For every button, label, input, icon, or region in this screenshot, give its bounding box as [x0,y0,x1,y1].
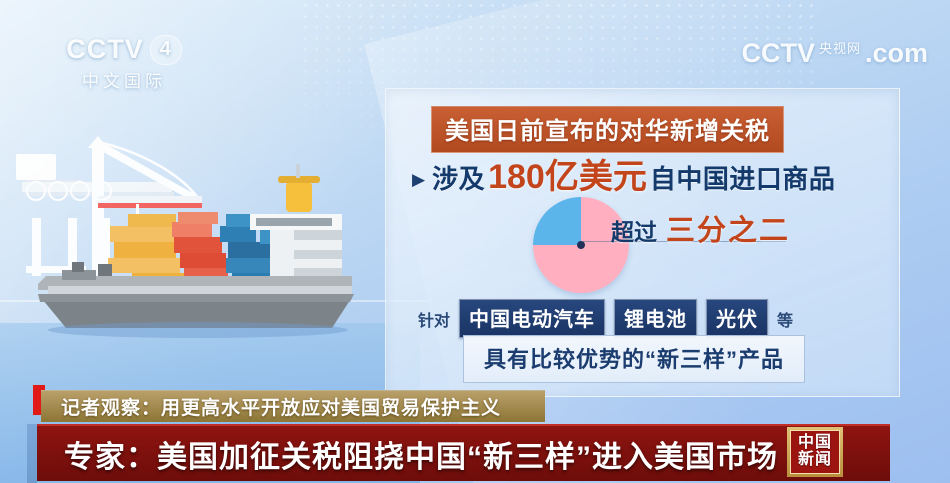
tag-photovoltaic: 光伏 [706,299,768,338]
panel-footnote-box: 具有比较优势的“新三样”产品 [463,335,805,383]
network-name: CCTV [66,34,144,65]
channel-name: 中文国际 [44,67,204,92]
panel-footnote-text: 具有比较优势的“新三样”产品 [484,347,784,372]
pie-callout: 超过 三分之二 [611,207,790,249]
container-ship-illustration [2,118,362,358]
subtitle-bar: 记者观察：用更高水平开放应对美国贸易保护主义 [41,390,545,422]
cctv-com-logo: CCTV 央视网 .com [741,38,928,69]
program-logo-line1: 中国 [798,435,832,452]
site-name: CCTV [741,38,815,69]
pie-callout-prefix: 超过 [611,213,657,247]
broadcast-screen: CCTV 4 中文国际 CCTV 央视网 .com [0,0,950,483]
site-domain: .com [865,38,928,69]
program-logo-line2: 新闻 [798,452,832,469]
bullet-suffix: 自中国进口商品 [650,159,836,196]
tags-prefix: 针对 [418,307,450,331]
pie-callout-value: 三分之二 [666,207,790,249]
tag-ev: 中国电动汽车 [459,299,605,338]
tariff-amount: 180亿美元 [488,149,647,198]
panel-banner-title: 美国日前宣布的对华新增关税 [431,106,784,153]
headline-bar: 专家：美国加征关税阻挠中国“新三样”进入美国市场 [37,424,890,481]
pie-center-dot [577,241,585,249]
subtitle-text: 记者观察：用更高水平开放应对美国贸易保护主义 [41,393,501,420]
triangle-right-icon: ▶ [412,170,425,190]
china-news-logo: 中国 新闻 [787,427,843,477]
lower-third-left-rail [27,424,37,483]
bullet-prefix: 涉及 [432,159,485,196]
tags-suffix: 等 [777,307,793,331]
panel-bullet-line: ▶ 涉及 180亿美元 自中国进口商品 [412,149,835,198]
info-panel: 美国日前宣布的对华新增关税 ▶ 涉及 180亿美元 自中国进口商品 超过 三分之… [385,88,900,397]
tag-lithium-battery: 锂电池 [614,299,697,338]
cctv4-logo: CCTV 4 中文国际 [44,34,204,92]
channel-number: 4 [150,35,182,65]
product-tags-row: 针对 中国电动汽车 锂电池 光伏 等 [418,299,793,338]
headline-text: 专家：美国加征关税阻挠中国“新三样”进入美国市场 [37,432,778,476]
site-cn-name: 央视网 [819,42,861,69]
